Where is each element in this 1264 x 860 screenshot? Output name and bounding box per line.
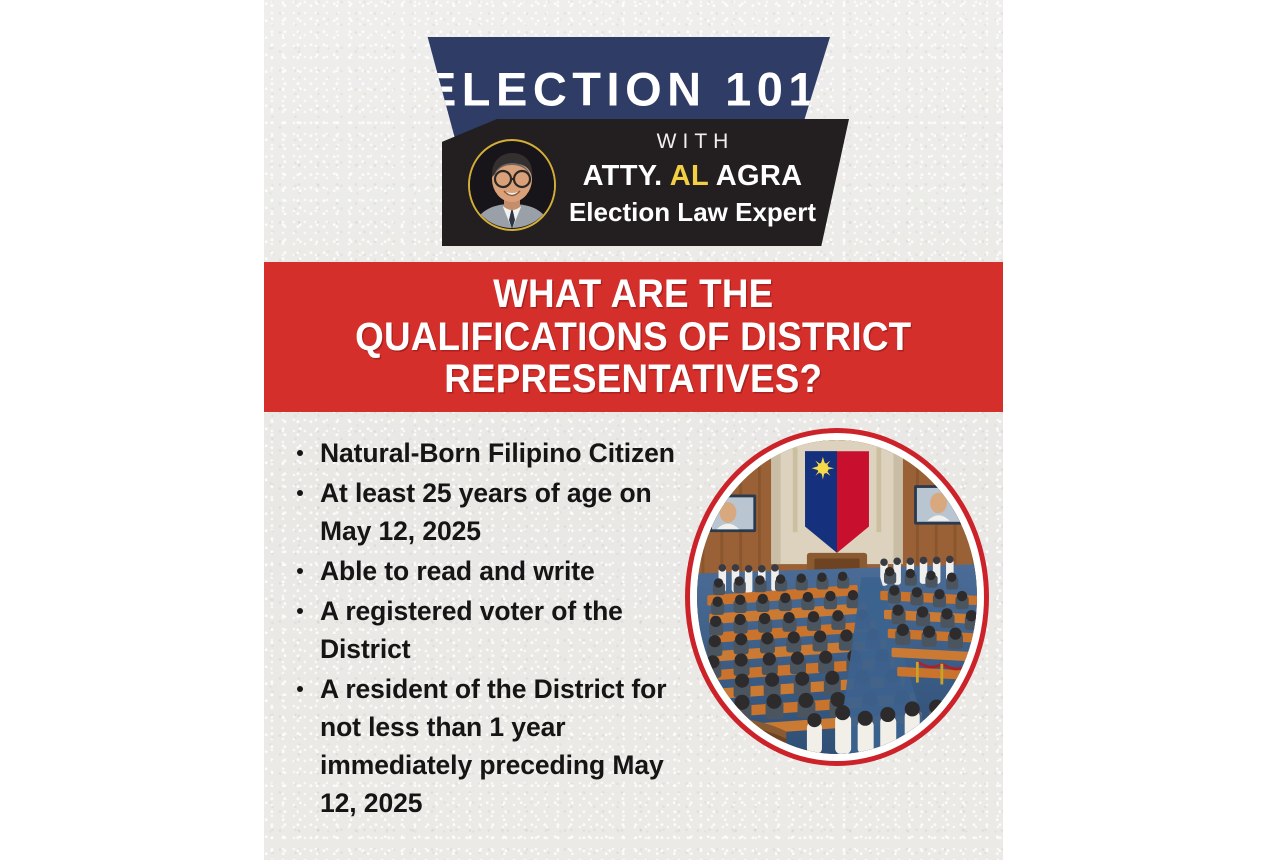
speaker-name-highlight: AL bbox=[670, 160, 709, 192]
list-item-label: At least 25 years of age on May 12, 2025 bbox=[320, 478, 652, 546]
plenary-hall-photo bbox=[685, 428, 989, 766]
list-item: A registered voter of the District bbox=[292, 592, 684, 668]
content-area: Natural-Born Filipino Citizen At least 2… bbox=[264, 412, 1003, 860]
bullet-dot-icon bbox=[297, 450, 303, 456]
list-item-label: A registered voter of the District bbox=[320, 596, 623, 664]
election-101-poster: ELECTION 101 bbox=[264, 0, 1003, 860]
list-item-label: A resident of the District for not less … bbox=[320, 674, 666, 818]
bullet-dot-icon bbox=[297, 568, 303, 574]
list-item: Natural-Born Filipino Citizen bbox=[292, 434, 684, 472]
list-item-label: Able to read and write bbox=[320, 556, 595, 586]
speaker-name-suffix: AGRA bbox=[709, 160, 803, 192]
list-item-label: Natural-Born Filipino Citizen bbox=[320, 438, 675, 468]
speaker-banner: WITH ATTY. AL AGRA Election Law Expert bbox=[442, 119, 849, 246]
list-item: Able to read and write bbox=[292, 552, 684, 590]
list-item: A resident of the District for not less … bbox=[292, 670, 684, 822]
with-label: WITH bbox=[560, 129, 825, 155]
headline-line-1: WHAT ARE THE bbox=[355, 273, 911, 315]
screenshot-stage: ELECTION 101 bbox=[0, 0, 1264, 860]
speaker-name-prefix: ATTY. bbox=[583, 160, 670, 192]
headline-line-2: QUALIFICATIONS OF DISTRICT bbox=[355, 316, 911, 358]
plenary-hall-photo-inner bbox=[697, 440, 977, 754]
bullet-dot-icon bbox=[297, 686, 303, 692]
series-title-text: ELECTION 101 bbox=[410, 65, 830, 112]
speaker-role: Election Law Expert bbox=[560, 197, 825, 228]
bullet-dot-icon bbox=[297, 490, 303, 496]
speaker-avatar bbox=[468, 139, 556, 231]
question-headline-band: WHAT ARE THE QUALIFICATIONS OF DISTRICT … bbox=[264, 262, 1003, 412]
list-item: At least 25 years of age on May 12, 2025 bbox=[292, 474, 684, 550]
bullet-dot-icon bbox=[297, 608, 303, 614]
headline-line-3: REPRESENTATIVES? bbox=[355, 358, 911, 400]
speaker-name: ATTY. AL AGRA bbox=[560, 159, 825, 194]
qualifications-list: Natural-Born Filipino Citizen At least 2… bbox=[292, 434, 684, 824]
question-headline: WHAT ARE THE QUALIFICATIONS OF DISTRICT … bbox=[346, 273, 920, 400]
speaker-text-block: WITH ATTY. AL AGRA Election Law Expert bbox=[560, 129, 825, 228]
